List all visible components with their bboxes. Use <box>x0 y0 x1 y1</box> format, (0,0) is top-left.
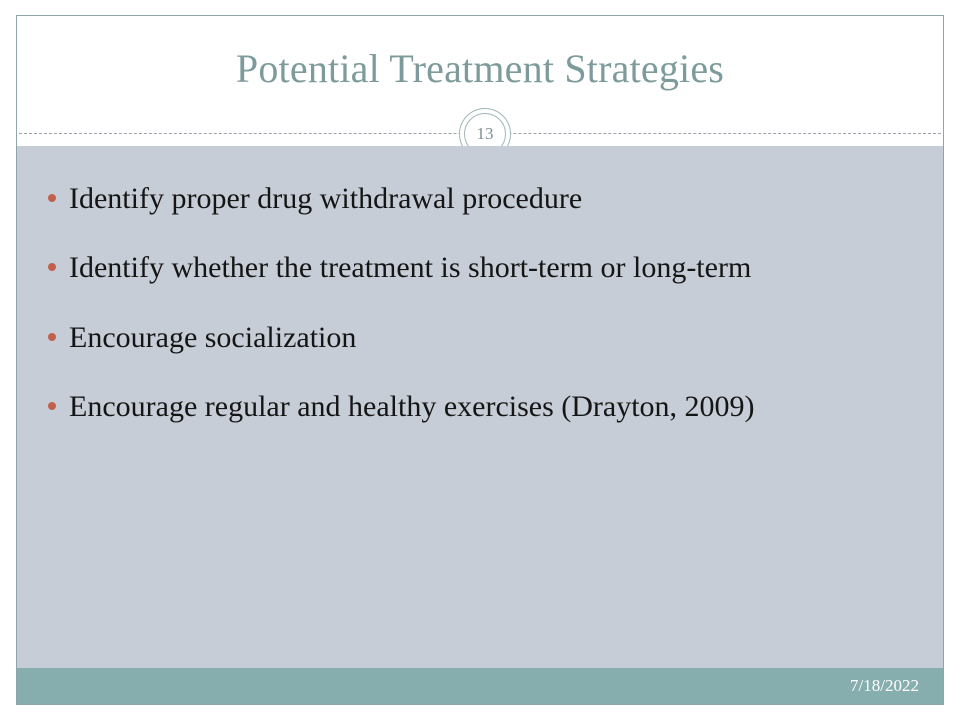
list-item-text: Identify proper drug withdrawal procedur… <box>69 182 582 215</box>
slide: Potential Treatment Strategies 13 Identi… <box>16 15 944 705</box>
slide-body: Identify proper drug withdrawal procedur… <box>17 146 943 670</box>
list-item-text: Identify whether the treatment is short-… <box>69 251 751 284</box>
bullet-dot-icon <box>48 402 56 410</box>
bullet-dot-icon <box>48 333 56 341</box>
bullet-list: Identify proper drug withdrawal procedur… <box>39 178 925 428</box>
slide-header: Potential Treatment Strategies 13 <box>17 16 943 146</box>
list-item: Encourage socialization <box>39 317 925 358</box>
list-item-text: Encourage regular and healthy exercises … <box>69 390 755 423</box>
bullet-dot-icon <box>48 194 56 202</box>
list-item-text: Encourage socialization <box>69 321 356 354</box>
bullet-dot-icon <box>48 263 56 271</box>
footer-date: 7/18/2022 <box>850 676 919 696</box>
page-title: Potential Treatment Strategies <box>17 46 943 92</box>
slide-footer: 7/18/2022 <box>17 668 943 704</box>
list-item: Encourage regular and healthy exercises … <box>39 386 925 427</box>
list-item: Identify whether the treatment is short-… <box>39 247 925 288</box>
list-item: Identify proper drug withdrawal procedur… <box>39 178 925 219</box>
